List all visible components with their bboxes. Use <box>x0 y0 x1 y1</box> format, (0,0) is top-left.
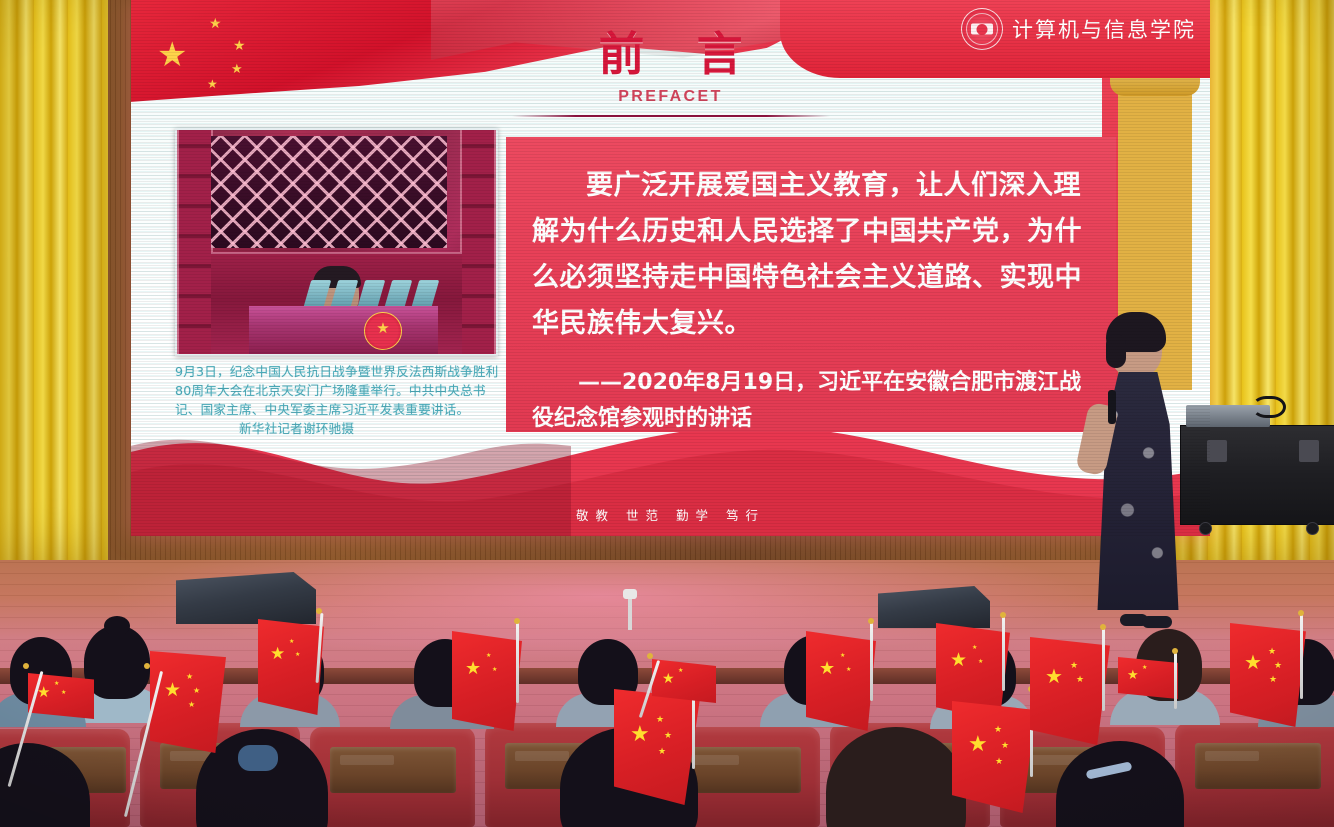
flag-cloth: ★ ★ <box>652 659 716 703</box>
flag-star-large: ★ <box>950 651 967 670</box>
flag-star-small: ★ <box>994 725 1002 734</box>
flag-star-small: ★ <box>295 652 300 658</box>
handheld-national-flag[interactable]: ★ ★ ★ <box>28 673 94 719</box>
flag-star-small: ★ <box>1268 647 1276 656</box>
flag-star-small: ★ <box>664 731 672 740</box>
road-case-latch <box>1299 440 1319 462</box>
photo-microphone-cluster <box>307 274 457 310</box>
photo-door-left <box>177 130 213 354</box>
quote-attribution: ——2020年8月19日，习近平在安徽合肥市渡江战役纪念馆参观时的讲话 <box>532 365 1090 437</box>
handheld-national-flag[interactable]: ★ ★ ★ ★ <box>150 651 226 753</box>
flag-star-small: ★ <box>972 645 977 651</box>
flag-star-small: ★ <box>54 681 59 687</box>
road-case-wheel <box>1306 522 1319 535</box>
flag-finial <box>1000 612 1006 618</box>
flag-cloth: ★ ★ ★ ★ <box>1230 623 1306 727</box>
flag-star-large: ★ <box>270 645 285 662</box>
handheld-national-flag[interactable]: ★ ★ ★ <box>806 631 876 731</box>
photo-lattice-window <box>211 136 447 248</box>
flag-star-small: ★ <box>1001 741 1009 750</box>
flag-star-small: ★ <box>186 673 193 681</box>
flag-star-small: ★ <box>289 639 294 645</box>
flag-finial <box>514 618 520 624</box>
flag-finial <box>868 618 874 624</box>
school-motto: 敬教 世范 勤学 笃行 <box>131 505 1210 524</box>
flag-star-small: ★ <box>846 667 851 673</box>
flag-star-large: ★ <box>662 671 675 685</box>
handheld-national-flag[interactable]: ★ ★ ★ ★ <box>952 701 1036 813</box>
road-case-latch <box>1207 440 1227 462</box>
stage-curtain-left <box>0 0 108 600</box>
flag-star-small: ★ <box>1070 661 1078 670</box>
slide-title-area: 前 言 PREFACET <box>131 18 1210 117</box>
flag-cloth: ★ ★ ★ ★ <box>150 651 226 753</box>
handheld-national-flag[interactable]: ★ ★ ★ <box>452 631 522 731</box>
title-underline-rule <box>512 115 830 117</box>
flag-cloth: ★ ★ ★ ★ <box>614 689 700 805</box>
flag-star-small: ★ <box>840 653 845 659</box>
flag-star-large: ★ <box>630 723 650 745</box>
slide-title-chinese: 前 言 <box>131 18 1210 84</box>
flag-star-small: ★ <box>678 668 683 674</box>
flag-star-small: ★ <box>656 715 664 724</box>
led-presentation-screen[interactable]: ★ ★ ★ ★ ★ 计算机与信息学院 前 言 PREFACET <box>131 0 1210 536</box>
flag-star-small: ★ <box>978 659 983 665</box>
handheld-national-flag[interactable]: ★ ★ <box>1118 657 1178 699</box>
flag-star-small: ★ <box>1076 675 1084 684</box>
flag-star-large: ★ <box>968 733 988 755</box>
handheld-national-flag[interactable]: ★ ★ ★ ★ <box>614 689 700 805</box>
national-emblem-icon <box>364 312 402 350</box>
handheld-microphone <box>1108 390 1116 424</box>
photo-door-panel <box>211 252 462 354</box>
coiled-cable <box>1252 396 1286 418</box>
flag-pole <box>1174 653 1177 709</box>
speech-photograph <box>175 128 498 356</box>
road-case-wheel <box>1199 522 1212 535</box>
quote-text: 要广泛开展爱国主义教育，让人们深入理解为什么历史和人民选择了中国共产党，为什么必… <box>532 163 1090 347</box>
seat-desk-panel <box>1195 743 1321 789</box>
flag-star-large: ★ <box>465 659 481 677</box>
flag-star-small: ★ <box>995 757 1003 766</box>
auditorium-scene: ★ ★ ★ ★ ★ 计算机与信息学院 前 言 PREFACET <box>0 0 1334 827</box>
flag-star-small: ★ <box>193 687 200 695</box>
handheld-national-flag[interactable]: ★ ★ ★ ★ <box>1230 623 1306 727</box>
handheld-national-flag[interactable]: ★ ★ ★ <box>258 619 324 715</box>
photo-podium <box>249 306 438 354</box>
flag-star-small: ★ <box>658 747 666 756</box>
flag-star-small: ★ <box>1274 661 1282 670</box>
flag-star-small: ★ <box>61 690 66 696</box>
handheld-national-flag[interactable]: ★ ★ <box>652 659 716 703</box>
flag-star-large: ★ <box>164 681 181 700</box>
slide-title-english: PREFACET <box>131 88 1210 106</box>
flag-pole <box>516 623 519 703</box>
flag-star-small: ★ <box>486 653 491 659</box>
flag-pole <box>870 623 873 701</box>
flag-pole <box>1002 617 1005 691</box>
flag-star-small: ★ <box>1142 665 1147 671</box>
flag-cloth: ★ ★ ★ ★ <box>952 701 1036 813</box>
hair-scrunchie <box>238 745 278 771</box>
flag-cloth: ★ ★ <box>1118 657 1178 699</box>
handheld-national-flag[interactable]: ★ ★ ★ <box>1030 637 1110 745</box>
flag-star-small: ★ <box>188 701 195 709</box>
flag-star-large: ★ <box>1127 668 1139 681</box>
seat-desk-panel <box>330 747 456 793</box>
photo-door-right <box>460 130 496 354</box>
flag-pole <box>1300 615 1303 699</box>
presenter-speaker <box>1088 318 1196 618</box>
flag-star-large: ★ <box>1045 667 1063 687</box>
flag-cloth: ★ ★ ★ <box>452 631 522 731</box>
equipment-road-case <box>1180 425 1334 525</box>
flag-finial <box>144 663 150 669</box>
presenter-hair-side <box>1106 334 1126 368</box>
flag-finial <box>1100 624 1106 630</box>
flag-finial <box>647 653 653 659</box>
flag-star-large: ★ <box>819 659 835 677</box>
flag-finial <box>23 663 29 669</box>
quote-card: 要广泛开展爱国主义教育，让人们深入理解为什么历史和人民选择了中国共产党，为什么必… <box>506 137 1116 432</box>
flag-finial <box>1172 648 1178 654</box>
flag-finial <box>316 608 322 614</box>
flag-star-small: ★ <box>1269 675 1277 684</box>
flag-pole <box>1102 629 1105 711</box>
flag-cloth: ★ ★ ★ <box>1030 637 1110 745</box>
flag-finial <box>1298 610 1304 616</box>
flag-star-large: ★ <box>1244 653 1262 673</box>
flag-cloth: ★ ★ ★ <box>806 631 876 731</box>
audience-area: ★ ★ ★ ★ ★ ★ ★ ★ ★ ★ <box>0 596 1334 827</box>
flag-cloth: ★ ★ ★ <box>258 619 324 715</box>
flag-star-small: ★ <box>492 667 497 673</box>
